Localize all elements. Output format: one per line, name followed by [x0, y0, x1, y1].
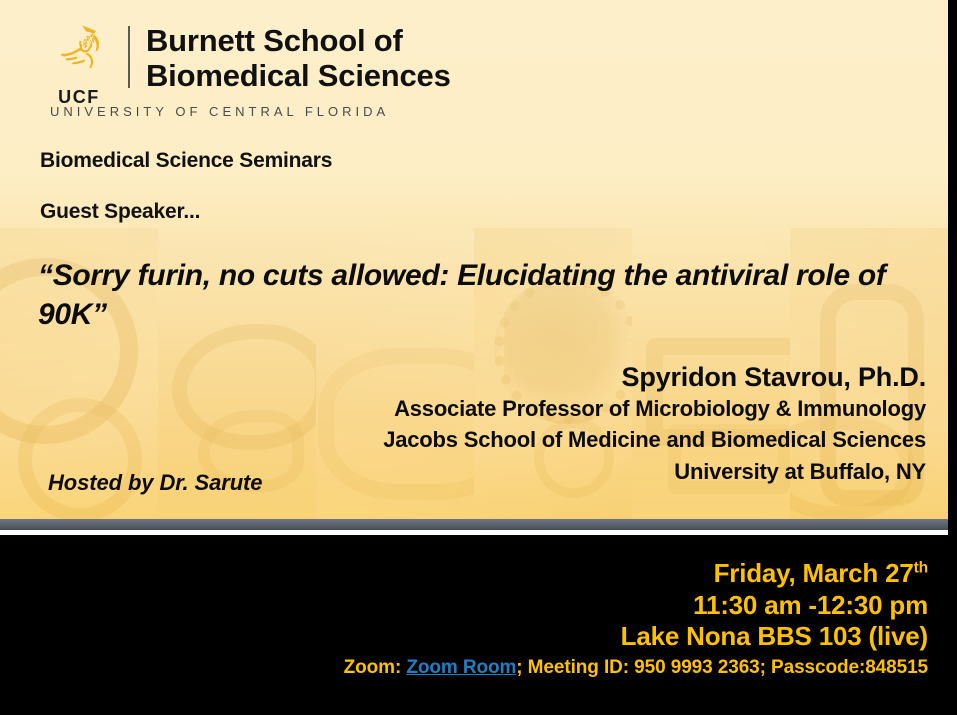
speaker-affiliation-1: Associate Professor of Microbiology & Im… [383, 393, 926, 424]
logo-divider-rule [128, 26, 130, 88]
seminar-series-title: Biomedical Science Seminars [40, 149, 332, 173]
speaker-degree: , Ph.D. [843, 362, 926, 392]
speaker-affiliation-2: Jacobs School of Medicine and Biomedical… [383, 424, 926, 455]
event-date: Friday, March 27th [344, 558, 928, 590]
event-time: 11:30 am -12:30 pm [344, 590, 928, 622]
zoom-meeting-info: ; Meeting ID: 950 9993 2363; Passcode:84… [516, 657, 928, 678]
event-date-suffix: th [914, 559, 928, 576]
guest-speaker-label: Guest Speaker... [40, 200, 200, 224]
talk-title: “Sorry furin, no cuts allowed: Elucidati… [38, 256, 938, 334]
event-details: Friday, March 27th 11:30 am -12:30 pm La… [344, 558, 928, 679]
event-date-text: Friday, March 27 [714, 558, 914, 588]
speaker-block: Spyridon Stavrou, Ph.D. Associate Profes… [383, 362, 926, 487]
seminar-flyer: UCF Burnett School of Biomedical Science… [0, 0, 957, 715]
university-tagline: UNIVERSITY OF CENTRAL FLORIDA [50, 104, 389, 119]
school-name: Burnett School of Biomedical Sciences [146, 24, 451, 93]
ucf-pegasus-icon [51, 22, 107, 85]
event-details-panel: Friday, March 27th 11:30 am -12:30 pm La… [0, 535, 957, 715]
speaker-name-line: Spyridon Stavrou, Ph.D. [383, 362, 926, 393]
event-location: Lake Nona BBS 103 (live) [344, 621, 928, 653]
zoom-info-line: Zoom: Zoom Room; Meeting ID: 950 9993 23… [344, 657, 928, 679]
zoom-prefix-label: Zoom: [344, 657, 407, 678]
pegasus-logo-group: UCF [48, 22, 110, 108]
hosted-by-line: Hosted by Dr. Sarute [48, 470, 262, 496]
speaker-name: Spyridon Stavrou [622, 362, 844, 392]
ucf-logo-lockup: UCF Burnett School of Biomedical Science… [48, 22, 451, 108]
speaker-affiliation-3: University at Buffalo, NY [383, 456, 926, 487]
gray-divider-bar [0, 519, 948, 530]
gold-content-panel: UCF Burnett School of Biomedical Science… [0, 0, 948, 519]
zoom-room-link[interactable]: Zoom Room [406, 657, 516, 678]
